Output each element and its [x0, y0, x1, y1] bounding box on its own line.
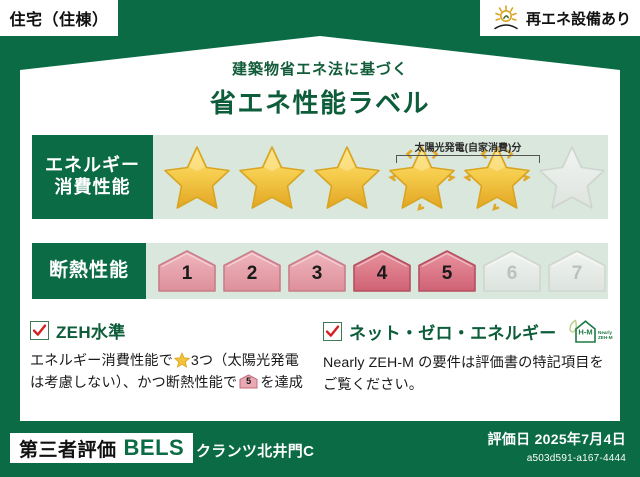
heading-title: 省エネ性能ラベル [0, 83, 640, 120]
property-name: クランツ北井門C [196, 440, 314, 461]
energy-performance-label: 住宅（住棟） 再エネ設備あり 建築物省 [0, 0, 640, 477]
insulation-level-active: 2 [221, 249, 283, 293]
bels-badge: 第三者評価 BELS [10, 433, 193, 463]
insulation-level-active: 3 [286, 249, 348, 293]
star-filled [161, 142, 233, 212]
insulation-level-inactive: 6 [481, 249, 543, 293]
building-type-badge: 住宅（住棟） [0, 0, 118, 36]
energy-label-line1: エネルギー [45, 155, 140, 177]
insulation-rating-content: 1234567 [146, 243, 608, 299]
assessment-date-label: 評価日 [487, 431, 530, 447]
star-filled [236, 142, 308, 212]
assessment-date: 評価日 2025年7月4日 [487, 429, 626, 449]
building-type-label: 住宅（住棟） [9, 6, 108, 30]
insulation-level-value: 3 [286, 264, 348, 283]
zehm-house-logo-icon: H-M Nearly ZEH-M [566, 318, 618, 345]
heading-subtitle: 建築物省エネ法に基づく [0, 58, 640, 79]
criterion-zeh: ZEH水準 エネルギー消費性能で3つ（太陽光発電は考慮しない）、かつ断熱性能で5… [30, 318, 323, 396]
criterion-zeh-header: ZEH水準 [30, 318, 313, 343]
insulation-level-value: 7 [546, 264, 608, 283]
insulation-level-value: 2 [221, 264, 283, 283]
insulation-level-value: 4 [351, 264, 413, 283]
star-icon [174, 352, 190, 368]
star-filled [311, 142, 383, 212]
svg-text:ZEH-M: ZEH-M [598, 335, 613, 340]
zeh-star-count: 3つ [191, 353, 213, 369]
criterion-nze-title: ネット・ゼロ・エネルギー [349, 319, 557, 344]
third-party-assessment-label: 第三者評価 [19, 435, 117, 462]
criterion-nze-body: Nearly ZEH-M の要件は評価書の特記項目をご覧ください。 [323, 352, 606, 396]
criterion-zeh-body: エネルギー消費性能で3つ（太陽光発電は考慮しない）、かつ断熱性能で5を達成 [30, 350, 313, 394]
insulation-level-value: 1 [156, 264, 218, 283]
checkbox-checked-icon [323, 322, 342, 341]
insulation-label: 断熱性能 [49, 259, 129, 282]
house-level-value: 5 [239, 377, 258, 386]
insulation-performance-row: 断熱性能 1234567 [32, 243, 608, 299]
solar-note-caption: 太陽光発電(自家消費)分 [388, 139, 548, 154]
solar-note-bracket [396, 155, 540, 163]
house-level-icon: 5 [239, 374, 258, 389]
criteria-section: ZEH水準 エネルギー消費性能で3つ（太陽光発電は考慮しない）、かつ断熱性能で5… [30, 318, 616, 396]
checkbox-checked-icon [30, 321, 49, 340]
insulation-level-active: 5 [416, 249, 478, 293]
solar-contribution-note: 太陽光発電(自家消費)分 [388, 139, 548, 163]
footer-bar: 第三者評価 BELS クランツ北井門C 評価日 2025年7月4日 a503d5… [0, 421, 640, 477]
assessment-date-value: 2025年7月4日 [535, 431, 626, 447]
zeh-body-part1: エネルギー消費性能で [30, 353, 173, 369]
sun-icon [493, 5, 521, 31]
insulation-level-value: 5 [416, 264, 478, 283]
criterion-nze-header: ネット・ゼロ・エネルギー H-M Nearly ZEH-M [323, 318, 606, 345]
insulation-level-active: 1 [156, 249, 218, 293]
criterion-net-zero-energy: ネット・ゼロ・エネルギー H-M Nearly ZEH-M Nearly ZEH… [323, 318, 616, 396]
energy-label-line2: 消費性能 [55, 177, 131, 199]
insulation-level-inactive: 7 [546, 249, 608, 293]
page-title: 建築物省エネ法に基づく 省エネ性能ラベル [0, 58, 640, 120]
zeh-body-part3: を達成 [260, 375, 303, 391]
renewable-equipment-badge: 再エネ設備あり [480, 0, 640, 36]
bels-logo-text: BELS [124, 435, 185, 461]
insulation-level-active: 4 [351, 249, 413, 293]
label-uid: a503d591-a167-4444 [487, 453, 626, 464]
insulation-level-scale: 1234567 [146, 249, 608, 293]
footer-meta: 評価日 2025年7月4日 a503d591-a167-4444 [487, 429, 626, 464]
svg-text:H-M: H-M [578, 328, 592, 337]
insulation-level-value: 6 [481, 264, 543, 283]
insulation-performance-label-block: 断熱性能 [32, 243, 146, 299]
criterion-zeh-title: ZEH水準 [56, 318, 126, 343]
renewable-equipment-label: 再エネ設備あり [526, 8, 631, 29]
energy-performance-label-block: エネルギー 消費性能 [32, 135, 153, 219]
